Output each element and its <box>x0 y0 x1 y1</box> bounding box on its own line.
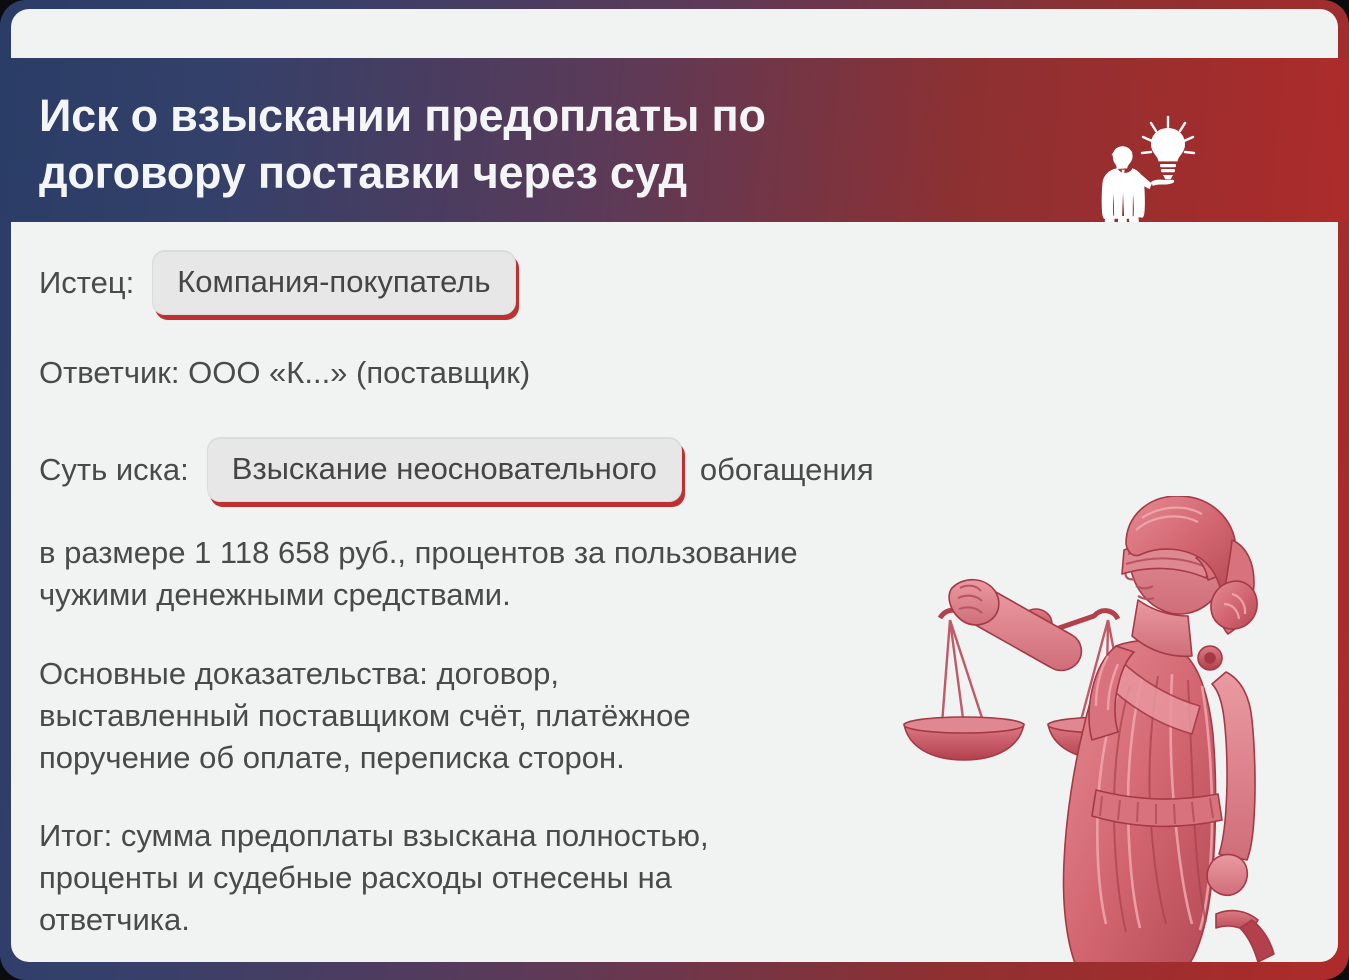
case-details: Истец: Компания-покупатель Ответчик: ООО… <box>39 250 1099 942</box>
defendant-row: Ответчик: ООО «К...» (поставщик) <box>39 353 1099 393</box>
card-top-strip <box>11 9 1338 58</box>
case-summary-card: Иск о взыскании предоплаты по договору п… <box>0 0 1349 980</box>
page-title: Иск о взыскании предоплаты по договору п… <box>39 88 899 201</box>
evidence-paragraph: Основные доказательства: договор, выстав… <box>39 653 1099 779</box>
claim-row: Суть иска: Взыскание неосновательного об… <box>39 437 1099 502</box>
claim-value-pill[interactable]: Взыскание неосновательного <box>207 437 682 502</box>
card-body: Истец: Компания-покупатель Ответчик: ООО… <box>11 222 1338 962</box>
plaintiff-value-pill[interactable]: Компания-покупатель <box>152 250 515 315</box>
claim-label: Суть иска: <box>39 452 189 488</box>
plaintiff-row: Истец: Компания-покупатель <box>39 250 1099 315</box>
claim-continuation: в размере 1 118 658 руб., процентов за п… <box>39 532 1099 616</box>
claim-suffix: обогащения <box>700 452 874 488</box>
outcome-paragraph: Итог: сумма предоплаты взыскана полность… <box>39 815 1099 941</box>
plaintiff-label: Истец: <box>39 265 134 301</box>
